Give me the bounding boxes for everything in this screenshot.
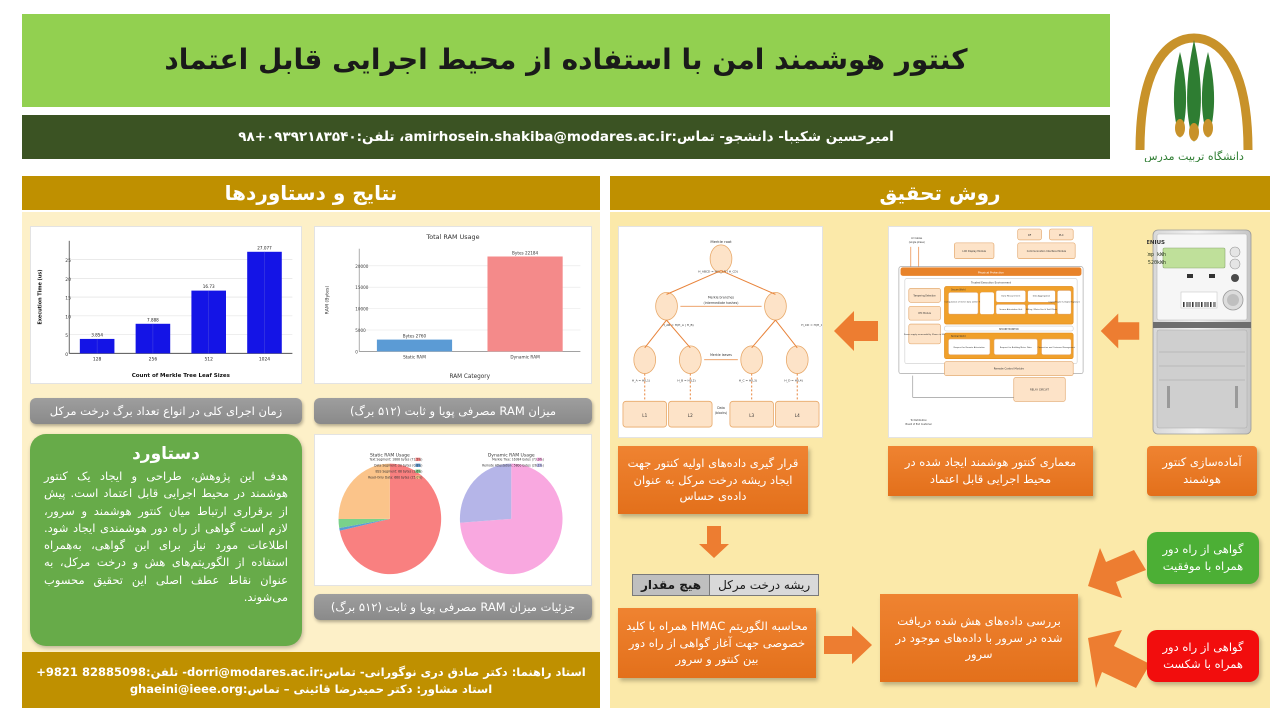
svg-text:Trusted Execution Environment: Trusted Execution Environment: [971, 280, 1011, 284]
svg-text:Computation of meter data with: Computation of meter data within TEE: [944, 300, 983, 303]
footer-contact-bar: استاد راهنما: دکتر صادق دری نوگورانی- تم…: [22, 652, 600, 708]
svg-text:SECURE MONITOR: SECURE MONITOR: [999, 328, 1019, 331]
svg-text:(blocks): (blocks): [715, 411, 728, 415]
svg-text:Total RAM Usage: Total RAM Usage: [425, 233, 479, 241]
achievement-title: دستاورد: [44, 444, 288, 464]
smart-meter-photo: ITRON NIKEN GENIUSCumu Imp kWh00.520kWh: [1147, 226, 1257, 438]
arrow-down-right-icon: [1084, 630, 1156, 692]
svg-text:Power supply measurability (Po: Power supply measurability (Power to UE): [904, 333, 945, 336]
svg-text:Text Segment: 1888 bytes (71.5: Text Segment: 1888 bytes (71.5%): [368, 458, 422, 462]
box-architecture-caption: معماری کنتور هوشمند ایجاد شده در محیط اج…: [888, 446, 1093, 496]
svg-text:Data Measurement: Data Measurement: [1001, 294, 1020, 297]
svg-text:00.520kWh: 00.520kWh: [1147, 260, 1166, 266]
results-column: 05101520253.8541287.88825616.7351227.077…: [22, 212, 600, 708]
diagram-architecture: LCD Display ModuleCommunication Interfac…: [888, 226, 1093, 438]
svg-text:Merkle root: Merkle root: [710, 240, 732, 244]
supervisor-contact: استاد راهنما: دکتر صادق دری نوگورانی- تم…: [36, 665, 585, 679]
svg-text:27.077: 27.077: [257, 245, 272, 250]
svg-text:H_C = H(L3): H_C = H(L3): [739, 379, 757, 383]
svg-text:LV Cables: LV Cables: [911, 237, 923, 240]
box-server-verification: بررسی داده‌های هش شده دریافت شده در سرور…: [880, 594, 1078, 682]
merkle-root-value: هیچ مقدار: [633, 575, 710, 595]
svg-text:BSS Segment: 68 bytes (2.6%): BSS Segment: 68 bytes (2.6%): [376, 470, 423, 474]
box-meter-preparation: آماده‌سازی کنتور هوشمند: [1147, 446, 1257, 496]
svg-text:512: 512: [204, 356, 213, 362]
svg-text:L4: L4: [795, 413, 800, 418]
caption-execution-time: زمان اجرای کلی در انواع تعداد برگ درخت م…: [30, 398, 302, 424]
box-attestation-success: گواهی از راه دور همراه با موفقیت: [1147, 532, 1259, 584]
section-header-results-label: نتایج و دستاوردها: [225, 181, 398, 205]
author-contact-bar: امیرحسین شکیبا- دانشجو- تماس:amirhosein.…: [22, 115, 1110, 159]
advisor-contact: استاد مشاور: دکتر حمیدرضا قائینی – تماس:…: [130, 682, 492, 696]
merkle-root-key: ریشه درخت مرکل: [710, 575, 818, 595]
svg-text:Request for Building Meter Dat: Request for Building Meter Data: [1000, 346, 1032, 349]
svg-text:7.888: 7.888: [147, 317, 159, 322]
svg-text:2760 Bytes: 2760 Bytes: [403, 333, 427, 338]
svg-text:Remote Control Module: Remote Control Module: [994, 367, 1025, 371]
svg-text:10000: 10000: [355, 307, 368, 312]
achievement-box: دستاورد هدف این پژوهش، طراحی و ایجاد یک …: [30, 434, 302, 646]
svg-text:Cumu Imp kWh: Cumu Imp kWh: [1147, 252, 1166, 258]
svg-text:Crypto Engine & Digital Signat: Crypto Engine & Digital Signature: [1048, 300, 1081, 303]
section-header-method: روش تحقیق: [610, 176, 1270, 210]
svg-text:20000: 20000: [355, 264, 368, 269]
svg-text:Data Segment: 20 bytes (0.8%): Data Segment: 20 bytes (0.8%): [374, 464, 422, 468]
svg-text:Merkle leaves: Merkle leaves: [710, 353, 732, 357]
logo-caption: دانشگاه تربیت مدرس: [1144, 150, 1244, 162]
svg-text:RAM (Bytes): RAM (Bytes): [325, 286, 331, 315]
arrow-left-icon-1: [832, 307, 880, 355]
svg-text:Secure Attestation Unit: Secure Attestation Unit: [999, 308, 1022, 311]
svg-text:L3: L3: [749, 413, 754, 418]
section-header-results: نتایج و دستاوردها: [22, 176, 600, 210]
svg-text:(single phase): (single phase): [909, 241, 925, 244]
caption-ram-detail: جزئیات میزان RAM مصرفی پویا و ثابت (۵۱۲ …: [314, 594, 592, 620]
svg-text:15000: 15000: [355, 285, 368, 290]
chart-execution-time: 05101520253.8541287.88825616.7351227.077…: [30, 226, 302, 384]
svg-text:Data: Data: [717, 406, 725, 410]
arrow-down-icon: [697, 524, 731, 560]
svg-text:Communication Interface Module: Communication Interface Module: [1027, 250, 1067, 253]
svg-text:16.73: 16.73: [203, 284, 215, 289]
svg-text:(intermediate hashes): (intermediate hashes): [704, 301, 739, 305]
svg-text:Static RAM: Static RAM: [403, 354, 426, 359]
diagram-merkle-tree: Merkle rootH_ABCD = H(H_AB | H_CD)H_AB =…: [618, 226, 823, 438]
svg-text:Tampering Detection: Tampering Detection: [913, 294, 936, 297]
svg-text:Secure World: Secure World: [951, 288, 966, 291]
svg-text:0: 0: [65, 352, 68, 358]
svg-text:Execution Time (us): Execution Time (us): [38, 270, 44, 325]
svg-text:25: 25: [65, 258, 71, 264]
chart-total-ram: Total RAM Usage050001000015000200002760 …: [314, 226, 592, 384]
svg-text:L2: L2: [688, 413, 693, 418]
svg-text:128: 128: [93, 356, 102, 362]
arrow-right-icon-1: [822, 624, 874, 666]
svg-text:10: 10: [65, 314, 71, 320]
achievement-body: هدف این پژوهش، طراحی و ایجاد یک کنتور هو…: [44, 468, 288, 606]
svg-text:Request for Remote Attestation: Request for Remote Attestation: [954, 346, 986, 349]
svg-text:Remote Attestation: 5800 bytes: Remote Attestation: 5800 bytes (26.1%): [482, 464, 544, 468]
university-logo: دانشگاه تربیت مدرس: [1118, 10, 1270, 162]
section-header-method-label: روش تحقیق: [880, 181, 1001, 205]
svg-text:RAM Category: RAM Category: [450, 374, 491, 380]
svg-text:Normal World: Normal World: [951, 335, 966, 338]
method-column: Merkle rootH_ABCD = H(H_AB | H_CD)H_AB =…: [610, 212, 1270, 708]
box-merkle-root-data: قرار گیری داده‌های اولیه کنتور جهت ایجاد…: [618, 446, 808, 514]
arrow-left-icon-2: [1099, 307, 1141, 355]
svg-text:ITRON NIKEN GENIUS: ITRON NIKEN GENIUS: [1147, 240, 1165, 246]
svg-text:Dynamic RAM: Dynamic RAM: [510, 354, 540, 359]
svg-text:0: 0: [355, 349, 358, 354]
svg-text:Physical Protection: Physical Protection: [978, 271, 1004, 275]
author-contact-text: امیرحسین شکیبا- دانشجو- تماس:amirhosein.…: [238, 129, 894, 145]
page-title: کنتور هوشمند امن با استفاده از محیط اجرا…: [164, 44, 967, 76]
poster-root: کنتور هوشمند امن با استفاده از محیط اجرا…: [0, 0, 1280, 720]
svg-text:Connection and Customer Manage: Connection and Customer Management: [1038, 346, 1076, 349]
svg-text:22184 Bytes: 22184 Bytes: [512, 250, 538, 255]
box-attestation-failure: گواهی از راه دور همراه با شکست: [1147, 630, 1259, 682]
svg-text:Board of End Customer: Board of End Customer: [906, 423, 932, 426]
svg-text:H_A = H(L1): H_A = H(L1): [632, 379, 650, 383]
svg-text:H_AB = H(H_A | H_B): H_AB = H(H_A | H_B): [663, 323, 694, 327]
arrow-up-right-icon: [1084, 548, 1150, 604]
svg-text:Merkle Tree: 16384 bytes (73.9: Merkle Tree: 16384 bytes (73.9%): [492, 458, 544, 462]
svg-text:RELAY CIRCUIT: RELAY CIRCUIT: [1030, 387, 1049, 391]
svg-text:H_D = H(L4): H_D = H(L4): [784, 379, 802, 383]
svg-text:15: 15: [65, 296, 71, 302]
svg-text:1024: 1024: [259, 356, 270, 362]
svg-text:To Distribution: To Distribution: [911, 419, 928, 422]
svg-text:20: 20: [65, 277, 71, 283]
chart-ram-breakdown: Static RAM UsageText Segment: 1888 bytes…: [314, 434, 592, 586]
merkle-root-kv: ریشه درخت مرکل هیچ مقدار: [632, 574, 819, 596]
svg-text:PLC: PLC: [1059, 233, 1064, 237]
svg-text:LCD Display Module: LCD Display Module: [962, 250, 986, 253]
svg-text:L1: L1: [642, 413, 647, 418]
svg-text:256: 256: [149, 356, 158, 362]
svg-text:H_CD = H(H_C | H_D): H_CD = H(H_C | H_D): [801, 323, 822, 327]
svg-text:5000: 5000: [355, 328, 366, 333]
svg-text:5: 5: [65, 333, 68, 339]
svg-text:Count of Merkle Tree Leaf Size: Count of Merkle Tree Leaf Sizes: [132, 373, 231, 379]
svg-text:Data Aggregation: Data Aggregation: [1033, 294, 1051, 297]
svg-text:RTC Module: RTC Module: [918, 312, 931, 315]
svg-text:Merkle branches: Merkle branches: [708, 295, 735, 299]
caption-total-ram: میزان RAM مصرفی پویا و ثابت (۵۱۲ برگ): [314, 398, 592, 424]
poster-title-bar: کنتور هوشمند امن با استفاده از محیط اجرا…: [22, 14, 1110, 107]
svg-text:Billing / Meter Fee & Tariff D: Billing / Meter Fee & Tariff Data: [1026, 308, 1057, 311]
svg-text:RF: RF: [1028, 233, 1032, 237]
svg-text:H_B = H(L2): H_B = H(L2): [677, 379, 695, 383]
svg-text:3.854: 3.854: [91, 332, 103, 337]
svg-text:Read-Only Data: 660 bytes (25.: Read-Only Data: 660 bytes (25.0%): [368, 475, 422, 479]
box-hmac: محاسبه الگوریتم HMAC همراه با کلید خصوصی…: [618, 608, 816, 678]
